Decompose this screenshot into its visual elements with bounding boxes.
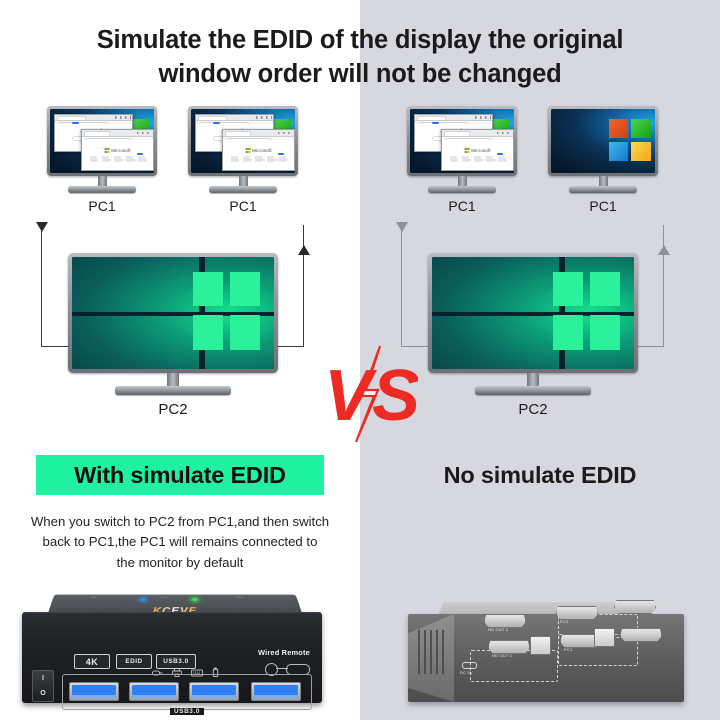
usb-port-3[interactable] xyxy=(189,682,239,701)
power-switch-on-label: I xyxy=(42,675,44,682)
monitor-pc1-right: PC1 xyxy=(548,106,658,214)
monitor-neck xyxy=(239,176,248,186)
infographic-page: Simulate the EDID of the display the ori… xyxy=(0,0,720,720)
monitor-pc1-left: Google Microsoft xyxy=(47,106,157,214)
connector-line-left xyxy=(401,225,402,347)
hdmi-label-out2: HD OUT 2 xyxy=(488,627,508,632)
browser-content: Microsoft xyxy=(442,140,513,170)
browser-content: Microsoft xyxy=(223,140,294,170)
monitor-pc2: PC2 xyxy=(428,253,638,418)
primary-button xyxy=(497,153,503,155)
microsoft-label: Microsoft xyxy=(252,148,272,153)
description-line-3: the monitor by default xyxy=(24,553,336,573)
connector-line-right xyxy=(663,225,664,347)
dc-power-label: DC 5V xyxy=(460,670,473,675)
arrow-down-icon xyxy=(36,222,48,232)
usb-b-port-pc1[interactable] xyxy=(530,636,551,655)
connector-line-right xyxy=(303,225,304,347)
left-panel-with-edid: Google Microsoft xyxy=(0,100,360,460)
arrow-up-icon xyxy=(298,245,310,255)
page-title-line-1: Simulate the EDID of the display the ori… xyxy=(34,24,686,58)
monitor-screen xyxy=(551,109,655,173)
browser-window-microsoft: Microsoft xyxy=(222,129,295,171)
hdmi-label-out1: HD OUT 1 xyxy=(492,653,512,658)
badge-with-simulate-edid: With simulate EDID xyxy=(36,455,324,495)
connector-line-left xyxy=(41,225,42,347)
dc-power-port[interactable] xyxy=(462,662,477,669)
monitor-screen xyxy=(72,257,274,369)
windows-wallpaper xyxy=(551,109,655,173)
monitor-label-pc1: PC1 xyxy=(47,198,157,214)
monitor-bezel: Google Microsoft xyxy=(47,106,157,176)
monitor-pc2: PC2 xyxy=(68,253,278,418)
arrow-up-icon xyxy=(658,245,670,255)
usb-port-group: USB3.0 xyxy=(62,674,312,710)
microsoft-label: Microsoft xyxy=(471,148,491,153)
usb-port-1[interactable] xyxy=(69,682,119,701)
vs-badge: VS xyxy=(318,344,418,444)
hdmi-port-out1[interactable] xyxy=(488,640,530,654)
led-indicator-green xyxy=(192,598,198,601)
monitor-base xyxy=(428,186,496,193)
content-grid-2 xyxy=(229,159,288,161)
monitor-bezel xyxy=(428,253,638,373)
monitor-bezel: Google Microsoft xyxy=(188,106,298,176)
microsoft-logo-icon: Microsoft xyxy=(104,148,131,153)
windows-green-wallpaper xyxy=(432,257,634,369)
monitor-neck xyxy=(167,373,179,386)
browser-window-microsoft: Microsoft xyxy=(81,129,154,171)
usb-port-2[interactable] xyxy=(129,682,179,701)
monitor-neck xyxy=(527,373,539,386)
monitor-screen xyxy=(432,257,634,369)
monitor-base xyxy=(68,186,136,193)
usb-group-label: USB3.0 xyxy=(170,708,204,715)
hdmi-port-pc2-b[interactable] xyxy=(614,600,656,614)
device-top-label-led: LED xyxy=(89,596,97,599)
page-title: Simulate the EDID of the display the ori… xyxy=(0,24,720,92)
monitor-screen: Google Microsoft xyxy=(410,109,514,173)
microsoft-logo-icon: Microsoft xyxy=(464,148,491,153)
monitor-label-pc2: PC2 xyxy=(68,401,278,418)
monitor-screen: Google Microsoft xyxy=(191,109,295,173)
windows-logo-icon xyxy=(553,272,620,350)
device-top-label-pc1: PC1 xyxy=(160,596,167,599)
badge-no-simulate-edid: No simulate EDID xyxy=(396,455,684,495)
kvm-switch-rear-view: DC 5V HD OUT 1 HD OUT 2 PC1 PC2 xyxy=(408,592,684,702)
monitor-bezel xyxy=(548,106,658,176)
monitor-screen: Google Microsoft xyxy=(50,109,154,173)
monitor-base xyxy=(569,186,637,193)
hdmi-port-pc1-b[interactable] xyxy=(620,628,662,642)
monitor-neck xyxy=(458,176,467,186)
device-top-label-pc2: PC2 xyxy=(236,596,243,599)
primary-button xyxy=(278,153,284,155)
content-grid-2 xyxy=(448,159,507,161)
hdmi-port-out2[interactable] xyxy=(484,614,526,628)
windows-logo-icon xyxy=(609,119,651,161)
badge-edid: EDID xyxy=(116,654,152,669)
arrow-down-icon xyxy=(396,222,408,232)
monitor-base xyxy=(475,386,591,395)
description-text: When you switch to PC2 from PC1,and then… xyxy=(24,512,336,573)
device-front-face: 4K EDID USB3.0 Wired Remote I O xyxy=(22,612,322,703)
usb-b-port-pc2[interactable] xyxy=(594,628,615,647)
browser-content: Microsoft xyxy=(82,140,153,170)
hdmi-port-pc2[interactable] xyxy=(556,606,598,620)
usb-port-4[interactable] xyxy=(251,682,301,701)
monitor-neck xyxy=(599,176,608,186)
monitor-bezel xyxy=(68,253,278,373)
monitor-label-pc1: PC1 xyxy=(407,198,517,214)
wired-remote-label: Wired Remote xyxy=(258,648,310,657)
ventilation-grille xyxy=(418,630,444,674)
monitor-label-pc1: PC1 xyxy=(548,198,658,214)
content-grid-2 xyxy=(88,159,147,161)
monitor-label-pc2: PC2 xyxy=(428,401,638,418)
hdmi-label-pc1: PC1 xyxy=(564,647,572,652)
monitor-bezel: Google Microsoft xyxy=(407,106,517,176)
power-switch[interactable]: I O xyxy=(32,670,54,702)
description-line-2: back to PC1,the PC1 will remains connect… xyxy=(24,532,336,552)
windows-logo-icon xyxy=(193,272,260,350)
monitor-label-pc1: PC1 xyxy=(188,198,298,214)
led-indicator-blue xyxy=(141,598,147,601)
primary-button xyxy=(137,153,143,155)
power-switch-off-label: O xyxy=(40,690,45,697)
microsoft-logo-icon: Microsoft xyxy=(245,148,272,153)
windows-green-wallpaper xyxy=(72,257,274,369)
description-line-1: When you switch to PC2 from PC1,and then… xyxy=(24,512,336,532)
page-title-line-2: window order will not be changed xyxy=(34,58,686,92)
badge-4k: 4K xyxy=(74,654,110,669)
monitor-base xyxy=(115,386,231,395)
microsoft-label: Microsoft xyxy=(111,148,131,153)
browser-window-microsoft: Microsoft xyxy=(441,129,514,171)
hdmi-label-pc2: PC2 xyxy=(560,619,568,624)
monitor-neck xyxy=(98,176,107,186)
kvm-switch-front-view: LED PC1 PC2 KCEVE USB3.0/HDMI KVM SWITCH… xyxy=(22,585,322,703)
monitor-base xyxy=(209,186,277,193)
monitor-pc1-right: Google Microsoft xyxy=(188,106,298,214)
monitor-pc1-left: Google Microsoft xyxy=(407,106,517,214)
